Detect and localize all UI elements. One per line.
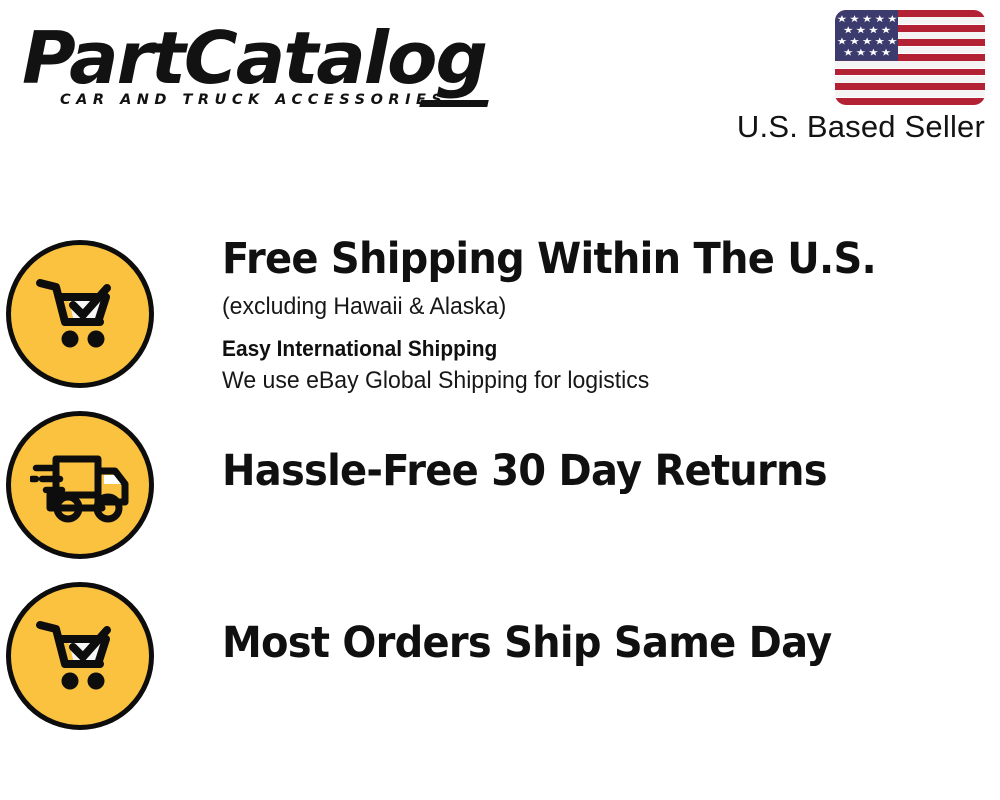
feature-list: Free Shipping Within The U.S. (excluding… [0,228,1000,742]
us-based-seller-badge: U.S. Based Seller [737,10,985,145]
delivery-truck-icon [6,411,154,559]
flag-stripe [835,90,985,97]
page-header: PartCatalog CAR AND TRUCK ACCESSORIES [0,0,1000,175]
shopping-cart-check-icon [6,582,154,730]
logo-swash-decoration [419,100,488,107]
flag-stripe [835,83,985,90]
feature-strong: Easy International Shipping [222,334,961,364]
logo-wordmark: PartCatalog [22,22,501,94]
feature-subtitle: (excluding Hawaii & Alaska) [222,290,969,323]
feature-icon-wrapper [0,400,160,570]
feature-title: Hassle-Free 30 Day Returns [222,446,946,496]
feature-note: We use eBay Global Shipping for logistic… [222,365,969,397]
feature-text: Hassle-Free 30 Day Returns [160,400,1000,496]
us-flag-icon [835,10,985,105]
flag-stripe [835,76,985,83]
feature-text: Free Shipping Within The U.S. (excluding… [160,228,1000,397]
brand-logo: PartCatalog CAR AND TRUCK ACCESSORIES [22,22,492,117]
shopping-cart-check-icon [6,240,154,388]
flag-stripe [835,98,985,105]
us-based-seller-label: U.S. Based Seller [737,109,985,145]
feature-title: Most Orders Ship Same Day [222,618,946,668]
feature-title: Free Shipping Within The U.S. [222,234,946,284]
logo-tagline: CAR AND TRUCK ACCESSORIES [60,92,447,108]
flag-canton [835,10,898,61]
feature-icon-wrapper [0,228,160,400]
feature-text: Most Orders Ship Same Day [160,570,1000,668]
feature-row: Most Orders Ship Same Day [0,570,1000,742]
flag-stripe [835,61,985,68]
feature-icon-wrapper [0,570,160,742]
feature-row: Free Shipping Within The U.S. (excluding… [0,228,1000,400]
feature-row: Hassle-Free 30 Day Returns [0,400,1000,570]
flag-stripe [835,69,985,76]
